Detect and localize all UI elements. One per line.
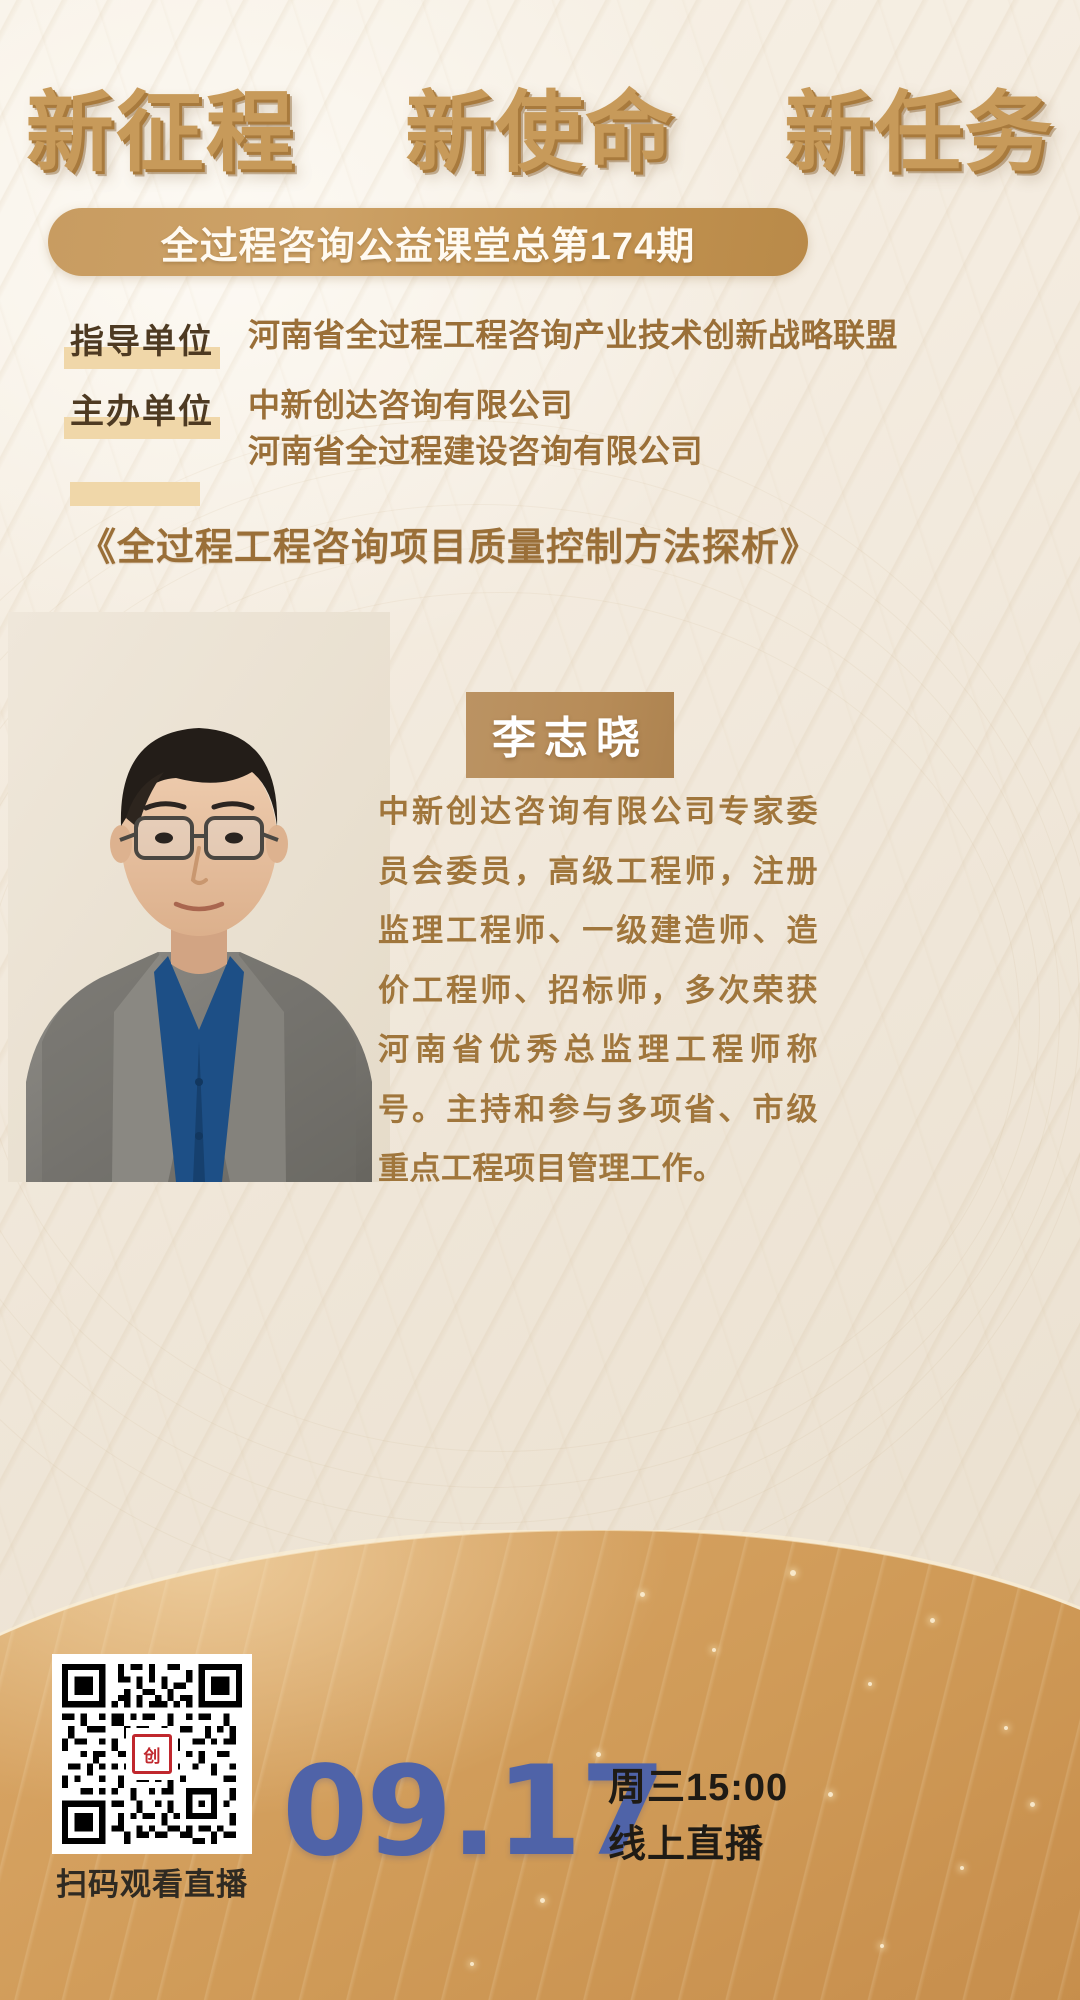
info-label-organizer-unit: 主办单位 xyxy=(64,382,220,437)
info-label-guidance-unit: 指导单位 xyxy=(64,312,220,367)
headline-part-2: 新使命 xyxy=(405,86,675,179)
qr-caption: 扫码观看直播 xyxy=(44,1859,260,1904)
info-row-guidance-unit: 指导单位 河南省全过程工程咨询产业技术创新战略联盟 xyxy=(64,312,898,367)
poster-headline: 新征程 新使命 新任务 xyxy=(0,86,1080,179)
speaker-name-badge: 李志晓 xyxy=(466,692,674,778)
info-value-organizer-line-1: 中新创达咨询有限公司 xyxy=(248,382,703,428)
speaker-name: 李志晓 xyxy=(492,702,648,766)
event-time-info: 周三15:00 线上直播 xyxy=(608,1760,788,1874)
series-badge-label: 全过程咨询公益课堂总第174期 xyxy=(161,215,695,270)
event-channel: 线上直播 xyxy=(608,1817,788,1874)
qr-logo-glyph: 创 xyxy=(132,1734,172,1774)
info-value-organizer-group: 中新创达咨询有限公司 河南省全过程建设咨询有限公司 xyxy=(220,382,703,475)
poster-root: 新征程 新使命 新任务 全过程咨询公益课堂总第174期 指导单位 河南省全过程工… xyxy=(0,0,1080,2000)
info-value-organizer-line-2: 河南省全过程建设咨询有限公司 xyxy=(248,428,703,474)
speaker-portrait-photo xyxy=(8,612,390,1182)
lecture-topic-title: 《全过程工程咨询项目质量控制方法探析》 xyxy=(78,516,819,571)
qr-center-logo: 创 xyxy=(126,1728,178,1780)
headline-part-3: 新任务 xyxy=(784,86,1054,179)
info-value-guidance-unit: 河南省全过程工程咨询产业技术创新战略联盟 xyxy=(248,312,898,358)
info-row-organizer-unit: 主办单位 中新创达咨询有限公司 河南省全过程建设咨询有限公司 xyxy=(64,382,703,475)
decorative-highlight-bar xyxy=(70,482,200,506)
headline-part-1: 新征程 xyxy=(26,86,296,179)
series-badge: 全过程咨询公益课堂总第174期 xyxy=(48,208,808,276)
event-weekday-time: 周三15:00 xyxy=(608,1760,788,1817)
speaker-bio: 中新创达咨询有限公司专家委员会委员，高级工程师，注册监理工程师、一级建造师、造价… xyxy=(378,782,818,1199)
livestream-qr-code[interactable]: 创 xyxy=(52,1654,252,1854)
event-date: 09.17 xyxy=(282,1750,664,1874)
